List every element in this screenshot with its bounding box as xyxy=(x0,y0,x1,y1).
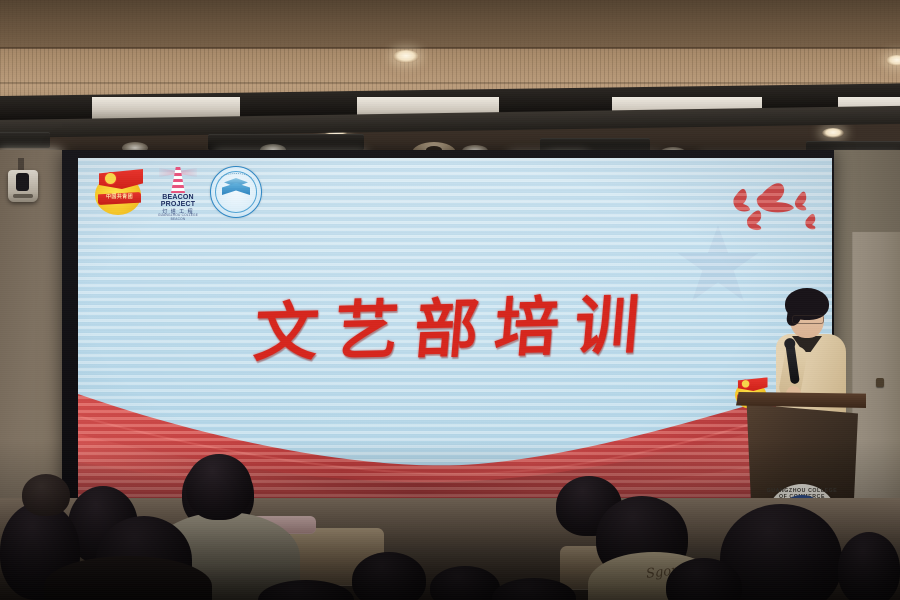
ceiling-upper-band xyxy=(0,0,900,48)
wall-fixture-knob xyxy=(876,378,884,387)
college-emblem-logo xyxy=(210,166,262,218)
communist-youth-league-flag-logo: 中国共青团 xyxy=(92,167,146,217)
beacon-line1: BEACON xyxy=(155,194,201,201)
red-doves-graphic xyxy=(690,174,830,244)
screen-logo-row: 中国共青团 BEACON PROJECT 灯 塔 工 程 GUANGZHOU C… xyxy=(92,166,262,218)
auditorium-photo: 中国共青团 BEACON PROJECT 灯 塔 工 程 GUANGZHOU C… xyxy=(0,0,900,600)
screen-title: 文艺部培训 xyxy=(78,270,832,378)
wall-camera-icon xyxy=(8,170,38,202)
light-fixture xyxy=(0,132,50,148)
ceiling-downlight xyxy=(393,50,419,63)
audience-head xyxy=(352,552,426,600)
ceiling-seam xyxy=(0,47,900,49)
league-emblem-icon xyxy=(741,379,750,388)
eyeglasses-icon xyxy=(792,315,824,324)
ceiling-seam xyxy=(0,82,900,84)
audience-head xyxy=(22,474,70,516)
league-emblem-icon xyxy=(104,172,117,185)
audience-head xyxy=(838,532,900,600)
light-fixture xyxy=(208,134,364,150)
audience-head xyxy=(186,454,252,520)
podium-top-surface xyxy=(736,392,866,408)
beacon-project-logo: BEACON PROJECT 灯 塔 工 程 GUANGZHOU COLLEGE… xyxy=(155,167,201,217)
beacon-line4: GUANGZHOU COLLEGE BEACON xyxy=(155,213,201,221)
audience-area: Sgoney xyxy=(0,440,900,600)
beacon-line2: PROJECT xyxy=(155,201,201,208)
flag-banner-text: 中国共青团 xyxy=(98,193,141,200)
